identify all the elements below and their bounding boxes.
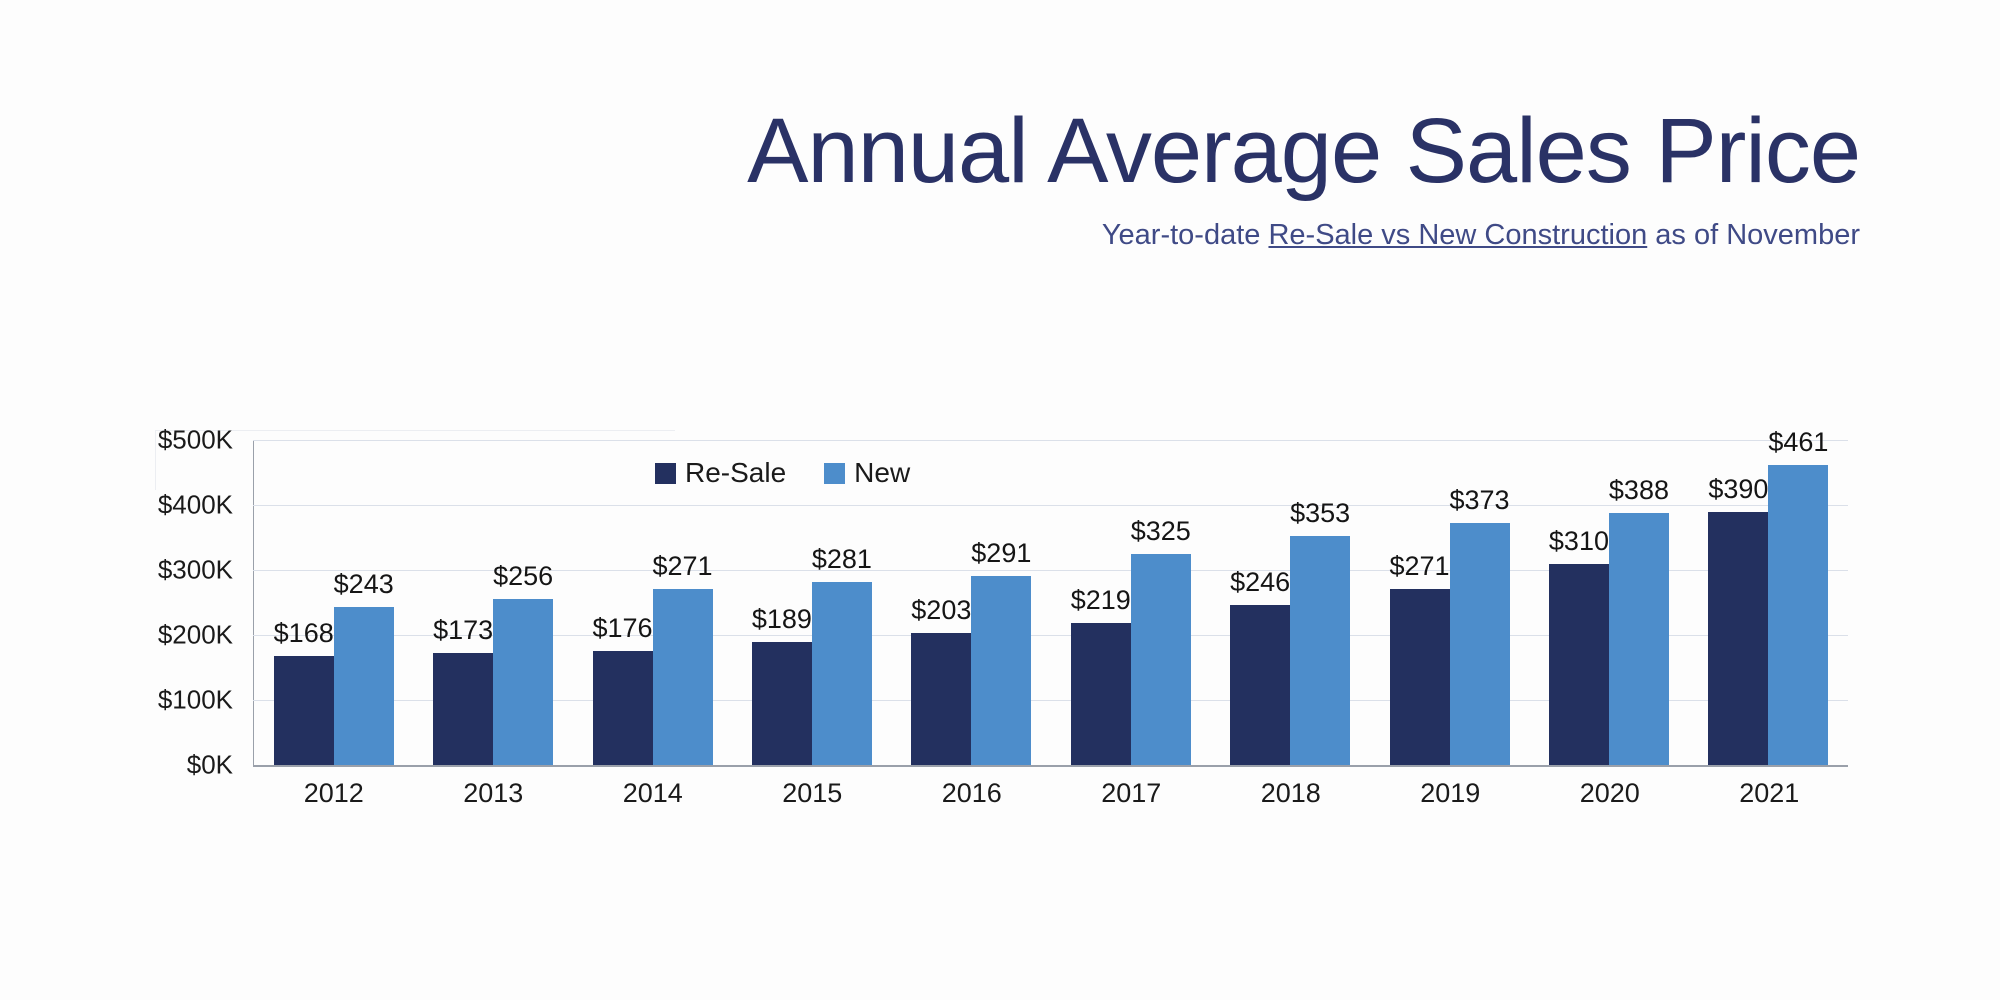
x-axis-tick-label: 2015 bbox=[733, 778, 893, 809]
bar-group: $219$325 bbox=[1051, 440, 1210, 765]
chart-frame-top-edge bbox=[155, 430, 675, 431]
bar-new[interactable]: $388 bbox=[1609, 513, 1669, 765]
bar-group: $246$353 bbox=[1210, 440, 1369, 765]
bar-new[interactable]: $271 bbox=[653, 589, 713, 765]
bar-value-label: $246 bbox=[1230, 567, 1290, 598]
bar-value-label: $271 bbox=[652, 551, 712, 582]
bar-resale[interactable]: $219 bbox=[1071, 623, 1131, 765]
chart-subtitle: Year-to-date Re-Sale vs New Construction… bbox=[0, 197, 1860, 252]
bar-resale[interactable]: $176 bbox=[593, 651, 653, 765]
bar-new[interactable]: $281 bbox=[812, 582, 872, 765]
bar-new[interactable]: $461 bbox=[1768, 465, 1828, 765]
plot-area: $0K$100K$200K$300K$400K$500K $168$243$17… bbox=[253, 440, 1848, 765]
bar-value-label: $219 bbox=[1071, 585, 1131, 616]
y-axis-tick-label: $100K bbox=[33, 685, 233, 716]
x-axis-tick-label: 2018 bbox=[1211, 778, 1371, 809]
bar-resale[interactable]: $203 bbox=[911, 633, 971, 765]
bar-resale[interactable]: $173 bbox=[433, 653, 493, 765]
bar-value-label: $388 bbox=[1609, 475, 1669, 506]
bar-resale[interactable]: $168 bbox=[274, 656, 334, 765]
x-axis-tick-label: 2017 bbox=[1052, 778, 1212, 809]
legend-label-new: New bbox=[854, 457, 910, 489]
subtitle-prefix: Year-to-date bbox=[1102, 219, 1269, 251]
x-axis-tick-label: 2013 bbox=[414, 778, 574, 809]
bar-value-label: $281 bbox=[812, 544, 872, 575]
bar-new[interactable]: $325 bbox=[1131, 554, 1191, 765]
bar-new[interactable]: $256 bbox=[493, 599, 553, 765]
legend-swatch-icon-new bbox=[824, 463, 845, 484]
y-axis-tick-label: $300K bbox=[33, 555, 233, 586]
bar-value-label: $176 bbox=[592, 613, 652, 644]
x-axis-tick-label: 2016 bbox=[892, 778, 1052, 809]
subtitle-suffix: as of November bbox=[1647, 219, 1860, 251]
y-axis-tick-label: $0K bbox=[33, 750, 233, 781]
x-axis-line bbox=[253, 765, 1848, 767]
x-axis-tick-label: 2014 bbox=[573, 778, 733, 809]
bar-group: $310$388 bbox=[1529, 440, 1688, 765]
bar-new[interactable]: $353 bbox=[1290, 536, 1350, 765]
x-axis-tick-label: 2012 bbox=[254, 778, 414, 809]
bar-resale[interactable]: $271 bbox=[1390, 589, 1450, 765]
bar-resale[interactable]: $246 bbox=[1230, 605, 1290, 765]
bar-value-label: $310 bbox=[1549, 526, 1609, 557]
bar-value-label: $390 bbox=[1708, 474, 1768, 505]
bar-resale[interactable]: $310 bbox=[1549, 564, 1609, 766]
bar-value-label: $461 bbox=[1768, 427, 1828, 458]
y-axis-tick-label: $200K bbox=[33, 620, 233, 651]
bar-group: $271$373 bbox=[1370, 440, 1529, 765]
bar-value-label: $168 bbox=[274, 618, 334, 649]
y-axis-tick-label: $400K bbox=[33, 490, 233, 521]
bar-new[interactable]: $291 bbox=[971, 576, 1031, 765]
x-axis-tick-label: 2020 bbox=[1530, 778, 1690, 809]
bar-value-label: $325 bbox=[1131, 516, 1191, 547]
bar-value-label: $189 bbox=[752, 604, 812, 635]
bar-group: $168$243 bbox=[254, 440, 413, 765]
bar-value-label: $373 bbox=[1450, 485, 1510, 516]
bar-value-label: $291 bbox=[971, 538, 1031, 569]
x-axis-tick-label: 2021 bbox=[1690, 778, 1850, 809]
legend-item-resale[interactable]: Re-Sale bbox=[655, 457, 786, 489]
bar-value-label: $173 bbox=[433, 615, 493, 646]
y-axis-tick-label: $500K bbox=[33, 425, 233, 456]
bar-value-label: $271 bbox=[1390, 551, 1450, 582]
page-title: Annual Average Sales Price bbox=[0, 0, 1860, 197]
chart-legend: Re-Sale New bbox=[655, 457, 910, 489]
bar-value-label: $203 bbox=[911, 595, 971, 626]
legend-label-resale: Re-Sale bbox=[685, 457, 786, 489]
chart-header: Annual Average Sales Price Year-to-date … bbox=[0, 0, 1860, 252]
legend-item-new[interactable]: New bbox=[824, 457, 910, 489]
bar-value-label: $243 bbox=[334, 569, 394, 600]
bar-group: $390$461 bbox=[1689, 440, 1848, 765]
bar-resale[interactable]: $189 bbox=[752, 642, 812, 765]
bar-new[interactable]: $373 bbox=[1450, 523, 1510, 765]
bar-value-label: $256 bbox=[493, 561, 553, 592]
bar-groups: $168$243$173$256$176$271$189$281$203$291… bbox=[254, 440, 1848, 765]
bar-new[interactable]: $243 bbox=[334, 607, 394, 765]
legend-swatch-icon-resale bbox=[655, 463, 676, 484]
chart-container: Re-Sale New $0K$100K$200K$300K$400K$500K… bbox=[155, 430, 1855, 810]
bar-value-label: $353 bbox=[1290, 498, 1350, 529]
x-axis-tick-label: 2019 bbox=[1371, 778, 1531, 809]
x-axis-tick-labels: 2012201320142015201620172018201920202021 bbox=[254, 778, 1849, 809]
subtitle-underlined-part: Re-Sale vs New Construction bbox=[1268, 219, 1647, 251]
bar-group: $173$256 bbox=[413, 440, 572, 765]
bar-resale[interactable]: $390 bbox=[1708, 512, 1768, 766]
bar-group: $203$291 bbox=[892, 440, 1051, 765]
